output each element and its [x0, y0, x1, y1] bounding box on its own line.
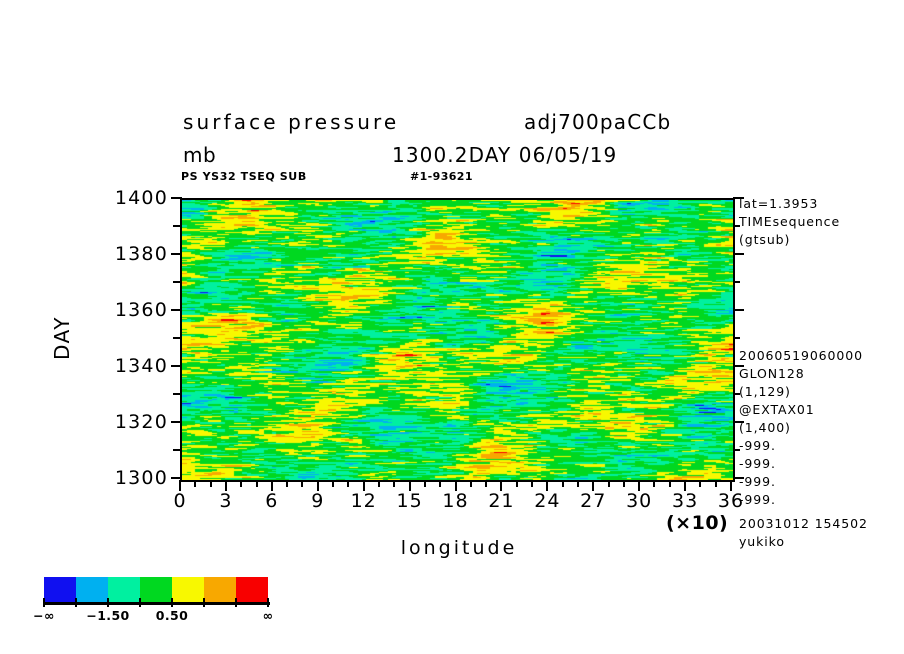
x-axis-minor-tick: [623, 480, 625, 487]
annotation-line: (1,400): [739, 420, 791, 435]
x-axis-minor-tick: [210, 480, 212, 487]
x-axis-tick-label: 15: [396, 490, 422, 512]
y-axis-minor-tick: [173, 393, 180, 395]
x-axis-tick-label: 3: [219, 490, 232, 512]
x-axis-tick-label: 30: [626, 490, 652, 512]
dataset-label: adj700paCCb: [524, 110, 671, 134]
record-id-label: #1-93621: [410, 170, 473, 183]
x-axis-minor-tick: [577, 480, 579, 487]
colorbar-tick: [267, 598, 269, 607]
x-axis-tick-label: 9: [311, 490, 324, 512]
page-title: surface pressure: [183, 110, 399, 134]
y-axis-tick-label: 1340: [115, 355, 168, 377]
colorbar-tick-label: −1.50: [86, 608, 129, 623]
x-axis-tick-label: 24: [534, 490, 560, 512]
y-axis-minor-tick: [173, 225, 180, 227]
x-axis-minor-tick: [699, 480, 701, 487]
annotation-line: lat=1.3953: [739, 196, 818, 211]
y-axis-tick-label: 1360: [115, 299, 168, 321]
annotation-line: -999.: [739, 438, 776, 453]
x-axis-minor-tick: [393, 480, 395, 487]
x-axis-minor-tick: [286, 480, 288, 487]
y-axis-minor-tick: [173, 449, 180, 451]
x-axis-minor-tick: [240, 480, 242, 487]
annotation-line: -999.: [739, 456, 776, 471]
x-axis-minor-tick: [608, 480, 610, 487]
annotation-line: -999.: [739, 474, 776, 489]
annotation-line: -999.: [739, 492, 776, 507]
annotation-line: GLON128: [739, 366, 805, 381]
x-axis-minor-tick: [378, 480, 380, 487]
x-axis-multiplier-label: (×10): [666, 512, 728, 534]
colorbar-band: [204, 577, 236, 603]
x-axis-tick-label: 21: [488, 490, 514, 512]
units-label: mb: [183, 143, 216, 167]
y-axis-minor-tick-right: [733, 337, 740, 339]
x-axis-minor-tick: [531, 480, 533, 487]
annotation-line: 20060519060000: [739, 348, 863, 363]
y-axis-major-tick-right: [733, 309, 744, 311]
x-axis-minor-tick: [424, 480, 426, 487]
colorbar-band: [44, 577, 76, 603]
annotation-line: (gtsub): [739, 232, 790, 247]
colorbar-tick-label: −∞: [33, 608, 55, 623]
date-value: 06/05/19: [519, 143, 618, 167]
y-axis-major-tick: [171, 365, 182, 367]
x-axis-minor-tick: [332, 480, 334, 487]
colorbar-band: [108, 577, 140, 603]
colorbar-band: [76, 577, 108, 603]
colorbar-tick: [139, 598, 141, 607]
y-axis-tick-label: 1400: [115, 187, 168, 209]
y-axis-tick-label: 1320: [115, 411, 168, 433]
y-axis-major-tick: [171, 253, 182, 255]
x-axis-tick-label: 27: [580, 490, 606, 512]
x-axis-tick-label: 6: [265, 490, 278, 512]
y-axis-labels: 130013201340136013801400: [0, 0, 168, 654]
colorbar-tick-label: 0.50: [156, 608, 188, 623]
time-value: 1300.2DAY: [392, 143, 511, 167]
x-axis-tick-label: 33: [672, 490, 698, 512]
x-axis-minor-tick: [347, 480, 349, 487]
y-axis-minor-tick: [173, 281, 180, 283]
time-and-date-label: 1300.2DAY 06/05/19: [392, 143, 617, 167]
x-axis-tick-label: 12: [351, 490, 377, 512]
x-axis-minor-tick: [194, 480, 196, 487]
y-axis-major-tick-right: [733, 253, 744, 255]
x-axis-minor-tick: [715, 480, 717, 487]
x-axis-minor-tick: [470, 480, 472, 487]
colorbar-band: [236, 577, 268, 603]
y-axis-title: DAY: [50, 316, 74, 360]
y-axis-tick-label: 1380: [115, 243, 168, 265]
x-axis-minor-tick: [669, 480, 671, 487]
y-axis-major-tick: [171, 197, 182, 199]
colorbar-tick: [75, 598, 77, 607]
record-tag-label: PS YS32 TSEQ SUB: [181, 170, 307, 183]
x-axis-minor-tick: [301, 480, 303, 487]
annotation-line: (1,129): [739, 384, 791, 399]
x-axis-minor-tick: [439, 480, 441, 487]
colorbar-tick: [235, 598, 237, 607]
colorbar-tick-label: ∞: [263, 608, 274, 623]
heatmap-canvas: [182, 200, 733, 480]
y-axis-major-tick: [171, 421, 182, 423]
colorbar-band: [172, 577, 204, 603]
x-axis-minor-tick: [256, 480, 258, 487]
x-axis-minor-tick: [562, 480, 564, 487]
y-axis-minor-tick: [173, 337, 180, 339]
colorbar-tick: [43, 598, 45, 607]
x-axis-tick-label: 0: [173, 490, 186, 512]
heatmap-plot-area: [180, 198, 735, 482]
x-axis-minor-tick: [516, 480, 518, 487]
colorbar-tick: [171, 598, 173, 607]
footer-timestamp: 20031012 154502: [739, 516, 868, 531]
colorbar-tick: [203, 598, 205, 607]
y-axis-major-tick: [171, 309, 182, 311]
y-axis-tick-label: 1300: [115, 467, 168, 489]
footer-user: yukiko: [739, 534, 785, 549]
x-axis-minor-tick: [485, 480, 487, 487]
annotation-line: @EXTAX01: [739, 402, 815, 417]
x-axis-tick-label: 18: [442, 490, 468, 512]
x-axis-minor-tick: [653, 480, 655, 487]
x-axis-title: longitude: [401, 537, 518, 559]
y-axis-major-tick: [171, 477, 182, 479]
annotation-line: TIMEsequence: [739, 214, 840, 229]
y-axis-minor-tick-right: [733, 281, 740, 283]
colorbar-band: [140, 577, 172, 603]
colorbar-tick: [107, 598, 109, 607]
